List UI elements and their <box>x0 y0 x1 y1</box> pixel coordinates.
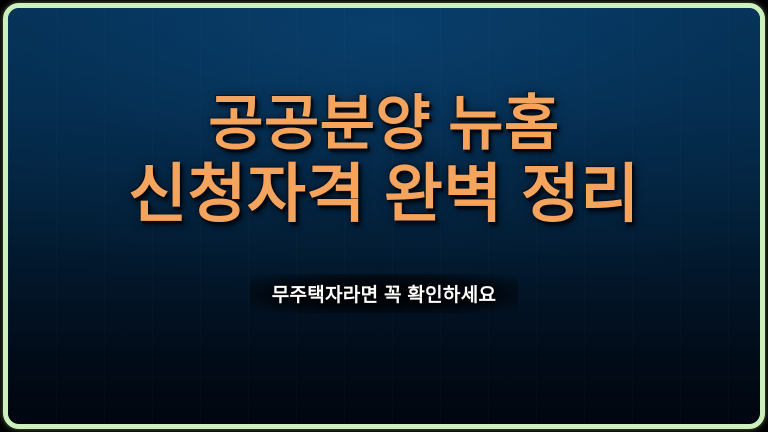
title-line-2: 신청자격 완벽 정리 <box>128 162 640 226</box>
card-frame: 공공분양 뉴홈 신청자격 완벽 정리 무주택자라면 꼭 확인하세요 <box>3 3 765 429</box>
page-title: 공공분양 뉴홈 신청자격 완벽 정리 <box>128 94 640 226</box>
title-line-1: 공공분양 뉴홈 <box>128 94 640 154</box>
card-content: 공공분양 뉴홈 신청자격 완벽 정리 무주택자라면 꼭 확인하세요 <box>8 8 760 424</box>
thumbnail-card: 공공분양 뉴홈 신청자격 완벽 정리 무주택자라면 꼭 확인하세요 <box>0 0 768 432</box>
subtitle-text: 무주택자라면 꼭 확인하세요 <box>272 285 497 306</box>
subtitle-container: 무주택자라면 꼭 확인하세요 <box>250 274 519 313</box>
